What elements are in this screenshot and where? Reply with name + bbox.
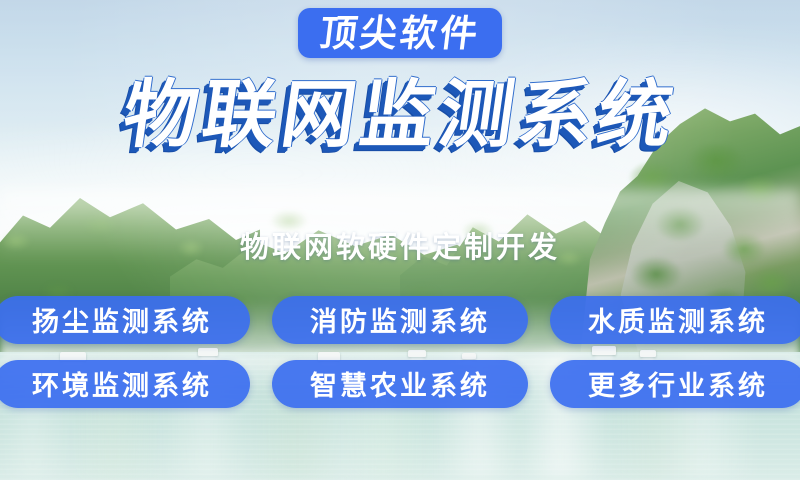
banner-content: 顶尖软件 物联网监测系统 物联网软硬件定制开发 扬尘监测系统 消防监测系统 水质… — [0, 0, 800, 480]
category-pill-fire[interactable]: 消防监测系统 — [272, 296, 528, 344]
category-pill-smart-agriculture[interactable]: 智慧农业系统 — [272, 360, 528, 408]
category-pill-label: 更多行业系统 — [588, 364, 768, 403]
category-pill-group: 扬尘监测系统 消防监测系统 水质监测系统 环境监测系统 智慧农业系统 更多行业系… — [0, 296, 800, 408]
page-subtitle: 物联网软硬件定制开发 — [240, 224, 560, 266]
category-row: 环境监测系统 智慧农业系统 更多行业系统 — [0, 360, 800, 408]
page-title: 物联网监测系统 — [118, 78, 681, 152]
promo-banner: 顶尖软件 物联网监测系统 物联网软硬件定制开发 扬尘监测系统 消防监测系统 水质… — [0, 0, 800, 480]
category-pill-water-quality[interactable]: 水质监测系统 — [550, 296, 800, 344]
category-pill-label: 环境监测系统 — [32, 364, 212, 403]
category-pill-dust[interactable]: 扬尘监测系统 — [0, 296, 250, 344]
category-pill-label: 水质监测系统 — [588, 300, 768, 339]
category-pill-environment[interactable]: 环境监测系统 — [0, 360, 250, 408]
category-pill-label: 消防监测系统 — [310, 300, 490, 339]
category-pill-label: 智慧农业系统 — [310, 364, 490, 403]
category-row: 扬尘监测系统 消防监测系统 水质监测系统 — [0, 296, 800, 344]
brand-badge[interactable]: 顶尖软件 — [298, 8, 502, 58]
brand-badge-label: 顶尖软件 — [318, 15, 483, 52]
category-pill-label: 扬尘监测系统 — [32, 300, 212, 339]
category-pill-more-industries[interactable]: 更多行业系统 — [550, 360, 800, 408]
